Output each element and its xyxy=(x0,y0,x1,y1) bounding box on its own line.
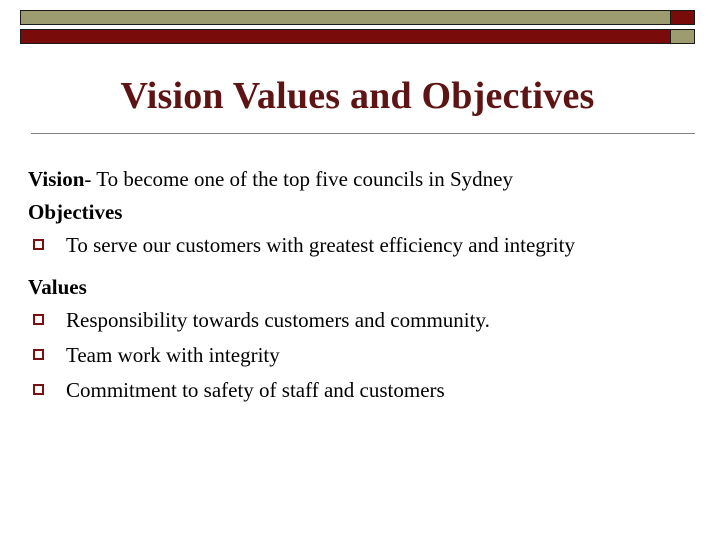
presentation-slide: Vision Values and Objectives Vision- To … xyxy=(0,0,720,540)
values-item-text: Commitment to safety of staff and custom… xyxy=(44,375,666,406)
list-item: To serve our customers with greatest eff… xyxy=(28,230,696,261)
header-band-lower-bar xyxy=(20,29,671,44)
square-bullet-icon xyxy=(33,239,44,250)
values-heading: Values xyxy=(28,272,696,302)
header-band-lower-row xyxy=(20,29,695,44)
list-item: Team work with integrity xyxy=(28,340,696,371)
values-item-text: Responsibility towards customers and com… xyxy=(44,305,666,336)
slide-header-band xyxy=(20,10,695,44)
title-divider xyxy=(31,133,695,134)
header-band-upper-cap xyxy=(671,10,695,25)
header-band-upper-row xyxy=(20,10,695,25)
values-item-text: Team work with integrity xyxy=(44,340,666,371)
square-bullet-icon xyxy=(33,349,44,360)
slide-body: Vision- To become one of the top five co… xyxy=(28,164,696,410)
vision-label: Vision xyxy=(28,167,84,191)
header-band-lower-cap xyxy=(671,29,695,44)
slide-title: Vision Values and Objectives xyxy=(20,74,695,118)
vision-statement: Vision- To become one of the top five co… xyxy=(28,164,696,194)
objectives-item-text: To serve our customers with greatest eff… xyxy=(44,230,666,261)
square-bullet-icon xyxy=(33,384,44,395)
list-item: Responsibility towards customers and com… xyxy=(28,305,696,336)
square-bullet-icon xyxy=(33,314,44,325)
vision-text: - To become one of the top five councils… xyxy=(84,167,513,191)
list-item: Commitment to safety of staff and custom… xyxy=(28,375,696,406)
header-band-upper-bar xyxy=(20,10,671,25)
objectives-heading: Objectives xyxy=(28,197,696,227)
